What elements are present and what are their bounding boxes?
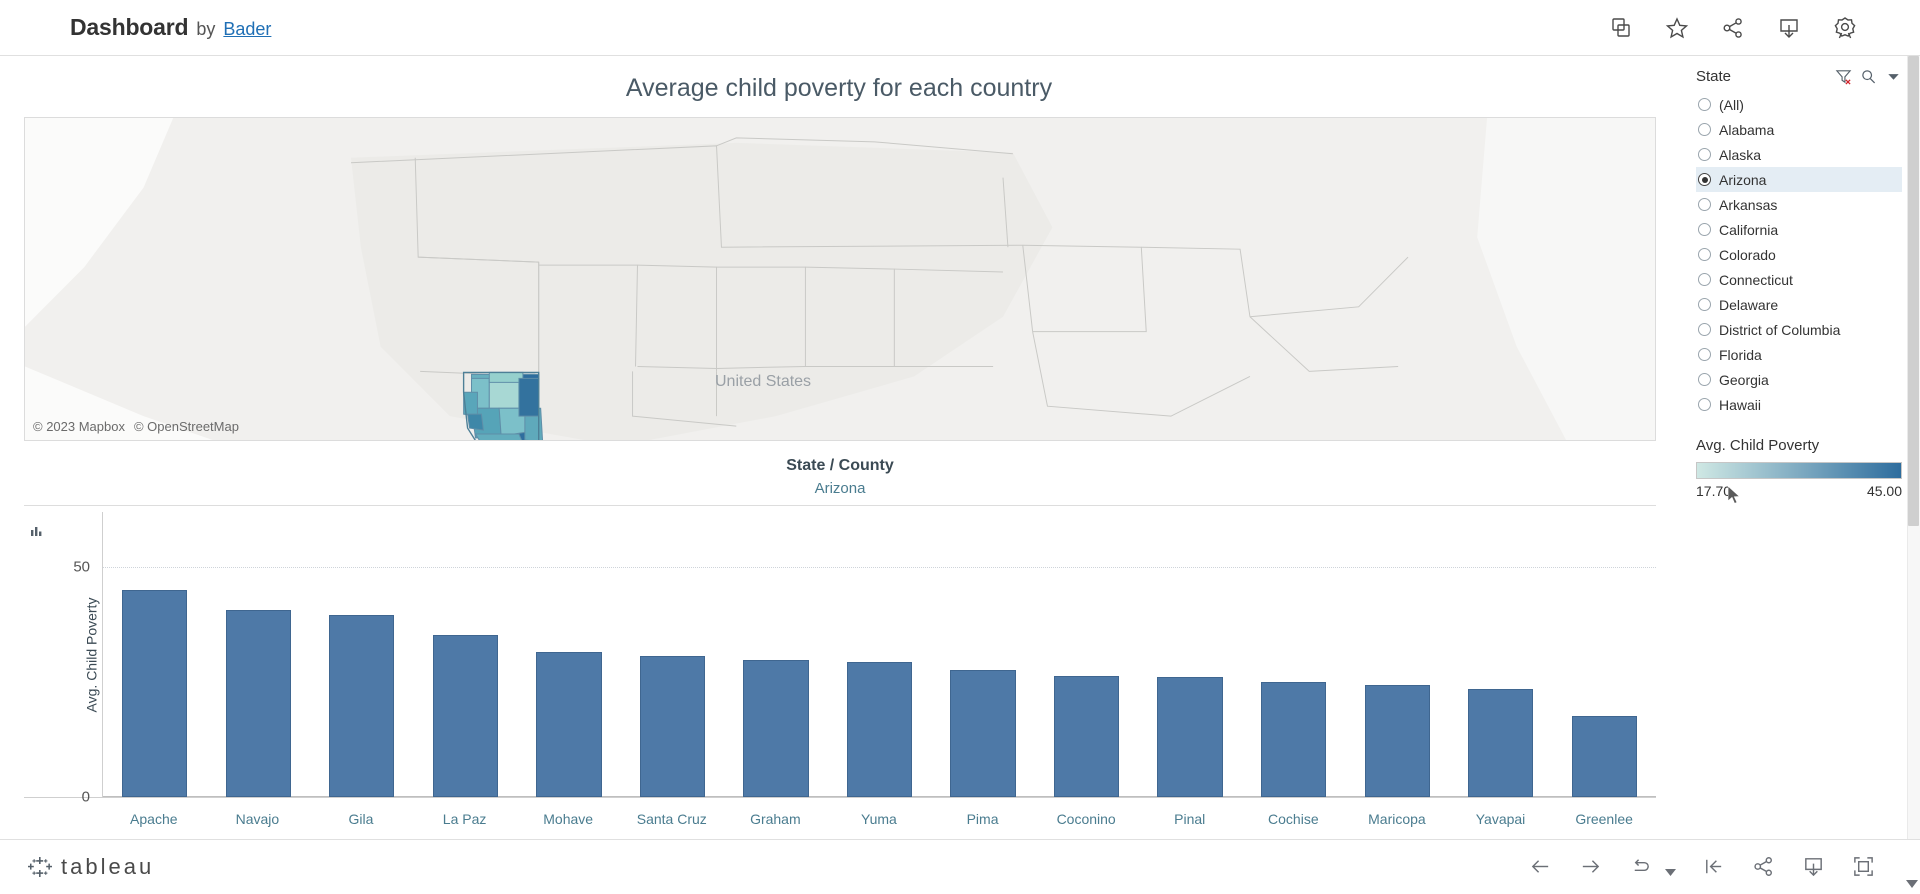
y-axis: Avg. Child Poverty 50 0	[24, 512, 102, 797]
x-axis-label[interactable]: Yavapai	[1449, 798, 1553, 839]
filter-pane: State (All)AlabamaAlaskaArizonaArkans	[1678, 56, 1920, 839]
bar[interactable]	[640, 656, 705, 797]
filter-item-label: Arizona	[1719, 172, 1766, 188]
filter-header-icons	[1835, 68, 1902, 85]
bar-item[interactable]	[828, 512, 932, 797]
state-filter-list[interactable]: (All)AlabamaAlaskaArizonaArkansasCalifor…	[1696, 92, 1902, 417]
radio-button[interactable]	[1698, 248, 1711, 261]
bar-item[interactable]	[621, 512, 725, 797]
bottom-toolbar: tableau	[0, 839, 1920, 894]
color-legend: Avg. Child Poverty 17.70 45.00	[1696, 437, 1902, 499]
filter-menu-caret-icon[interactable]	[1885, 68, 1902, 85]
filter-item-connecticut[interactable]: Connecticut	[1696, 267, 1902, 292]
bar[interactable]	[226, 610, 291, 797]
legend-max-value: 45.00	[1867, 483, 1902, 499]
x-axis-label[interactable]: Apache	[102, 798, 206, 839]
tableau-wordmark: tableau	[61, 854, 154, 880]
share-icon[interactable]	[1752, 855, 1776, 879]
author-link[interactable]: Bader	[223, 19, 271, 40]
filter-item-district-of-columbia[interactable]: District of Columbia	[1696, 317, 1902, 342]
x-axis-label[interactable]: Navajo	[206, 798, 310, 839]
radio-button[interactable]	[1698, 398, 1711, 411]
x-axis-label[interactable]: Gila	[309, 798, 413, 839]
x-axis-label[interactable]: Pinal	[1138, 798, 1242, 839]
filter-item-label: Florida	[1719, 347, 1762, 363]
bar[interactable]	[536, 652, 601, 797]
bar-item[interactable]	[931, 512, 1035, 797]
bar-item[interactable]	[1035, 512, 1139, 797]
filter-item-delaware[interactable]: Delaware	[1696, 292, 1902, 317]
radio-button[interactable]	[1698, 123, 1711, 136]
tableau-logo: tableau	[20, 854, 154, 880]
filter-item-label: California	[1719, 222, 1778, 238]
bar-item[interactable]	[207, 512, 311, 797]
bar[interactable]	[1468, 689, 1533, 797]
filter-item-label: Connecticut	[1719, 272, 1793, 288]
map-geometry	[25, 118, 1655, 440]
chart-column-header: State / County	[24, 457, 1656, 475]
y-tick-50: 50	[73, 559, 90, 576]
bar-item[interactable]	[1345, 512, 1449, 797]
filter-item-label: Colorado	[1719, 247, 1776, 263]
bar[interactable]	[950, 670, 1015, 797]
radio-button[interactable]	[1698, 373, 1711, 386]
page-scrollbar-track[interactable]	[1907, 56, 1920, 839]
radio-button[interactable]	[1698, 173, 1711, 186]
legend-min-value: 17.70	[1696, 483, 1731, 499]
radio-button[interactable]	[1698, 298, 1711, 311]
bar-item[interactable]	[724, 512, 828, 797]
revert-icon[interactable]	[1629, 855, 1653, 879]
filter-item-label: Delaware	[1719, 297, 1778, 313]
radio-button[interactable]	[1698, 348, 1711, 361]
viz-title: Average child poverty for each country	[0, 56, 1678, 117]
top-toolbar: Dashboard by Bader	[0, 0, 1920, 56]
plot-area	[102, 512, 1656, 797]
bar[interactable]	[1157, 677, 1222, 797]
x-axis-label[interactable]: Yuma	[827, 798, 931, 839]
x-axis-label[interactable]: Mohave	[516, 798, 620, 839]
tableau-mark-icon	[28, 855, 52, 879]
bar-item[interactable]	[414, 512, 518, 797]
legend-gradient	[1696, 462, 1902, 479]
filter-item-all[interactable]: (All)	[1696, 92, 1902, 117]
bar-item[interactable]	[1242, 512, 1346, 797]
share-icon[interactable]	[1720, 15, 1746, 41]
map-view[interactable]: United States © 2023 Mapbox © OpenStreet…	[24, 117, 1656, 441]
scroll-down-caret-icon[interactable]	[1906, 879, 1918, 888]
byline-text: by	[196, 19, 215, 40]
radio-button[interactable]	[1698, 323, 1711, 336]
bar[interactable]	[1572, 716, 1637, 797]
plot-row: Avg. Child Poverty 50 0	[24, 506, 1656, 797]
bar[interactable]	[1365, 685, 1430, 797]
page-scrollbar-thumb[interactable]	[1908, 56, 1919, 526]
filter-item-arizona[interactable]: Arizona	[1696, 167, 1902, 192]
certified-badge-icon[interactable]	[1832, 15, 1858, 41]
radio-button[interactable]	[1698, 198, 1711, 211]
filter-item-alaska[interactable]: Alaska	[1696, 142, 1902, 167]
y-tick-0: 0	[82, 789, 90, 806]
radio-button[interactable]	[1698, 148, 1711, 161]
bar-item[interactable]	[310, 512, 414, 797]
filter-item-colorado[interactable]: Colorado	[1696, 242, 1902, 267]
sort-icon[interactable]	[30, 524, 44, 538]
bar[interactable]	[743, 660, 808, 797]
filter-item-label: District of Columbia	[1719, 322, 1840, 338]
filter-item-label: Hawaii	[1719, 397, 1761, 413]
radio-button[interactable]	[1698, 273, 1711, 286]
x-axis-label[interactable]: Coconino	[1034, 798, 1138, 839]
x-axis-label[interactable]: Maricopa	[1345, 798, 1449, 839]
bar-item[interactable]	[1449, 512, 1553, 797]
map-attribution: © 2023 Mapbox © OpenStreetMap	[33, 419, 239, 434]
bar-item[interactable]	[1138, 512, 1242, 797]
fullscreen-icon[interactable]	[1852, 855, 1876, 879]
filter-item-label: Alaska	[1719, 147, 1761, 163]
bar[interactable]	[1054, 676, 1119, 797]
legend-title: Avg. Child Poverty	[1696, 437, 1902, 454]
x-axis-label[interactable]: Santa Cruz	[620, 798, 724, 839]
bar[interactable]	[329, 615, 394, 797]
filter-header: State	[1696, 68, 1902, 85]
page-title: Dashboard	[70, 14, 188, 41]
bar-item[interactable]	[1552, 512, 1656, 797]
dashboard-body: Average child poverty for each country	[0, 56, 1920, 839]
filter-item-alabama[interactable]: Alabama	[1696, 117, 1902, 142]
mapbox-attribution: © 2023 Mapbox	[33, 419, 125, 434]
x-axis-label[interactable]: Greenlee	[1552, 798, 1656, 839]
x-axis-label[interactable]: Pima	[931, 798, 1035, 839]
x-axis-labels: ApacheNavajoGilaLa PazMohaveSanta CruzGr…	[24, 797, 1656, 839]
filter-item-label: (All)	[1719, 97, 1744, 113]
bar-item[interactable]	[517, 512, 621, 797]
duplicate-icon[interactable]	[1608, 15, 1634, 41]
revert-caret-icon[interactable]	[1665, 863, 1676, 871]
bar-series	[103, 512, 1656, 797]
x-axis-label[interactable]: Graham	[724, 798, 828, 839]
filter-item-label: Alabama	[1719, 122, 1774, 138]
top-toolbar-actions	[1608, 15, 1898, 41]
tableau-dashboard: Dashboard by Bader Average chi	[0, 0, 1920, 894]
favorite-star-icon[interactable]	[1664, 15, 1690, 41]
bar[interactable]	[122, 590, 187, 797]
radio-button[interactable]	[1698, 98, 1711, 111]
filter-title: State	[1696, 68, 1731, 85]
bottom-toolbar-actions	[1529, 855, 1876, 879]
y-axis-title: Avg. Child Poverty	[83, 597, 99, 712]
forward-arrow-icon[interactable]	[1579, 855, 1603, 879]
bar-item[interactable]	[103, 512, 207, 797]
download-icon[interactable]	[1802, 855, 1826, 879]
download-icon[interactable]	[1776, 15, 1802, 41]
dashboard-title-group: Dashboard by Bader	[70, 14, 271, 41]
osm-attribution: © OpenStreetMap	[134, 419, 239, 434]
search-icon[interactable]	[1860, 68, 1877, 85]
x-axis-label[interactable]: La Paz	[413, 798, 517, 839]
filter-item-label: Arkansas	[1719, 197, 1777, 213]
reset-to-start-icon[interactable]	[1702, 855, 1726, 879]
filter-item-arkansas[interactable]: Arkansas	[1696, 192, 1902, 217]
back-arrow-icon[interactable]	[1529, 855, 1553, 879]
viz-pane: Average child poverty for each country	[0, 56, 1678, 839]
filter-item-florida[interactable]: Florida	[1696, 342, 1902, 367]
clear-filter-icon[interactable]	[1835, 68, 1852, 85]
radio-button[interactable]	[1698, 223, 1711, 236]
chart-state-label[interactable]: Arizona	[24, 475, 1656, 497]
legend-values: 17.70 45.00	[1696, 483, 1902, 499]
bar[interactable]	[433, 635, 498, 797]
chart-header: State / County Arizona	[24, 441, 1656, 506]
filter-item-hawaii[interactable]: Hawaii	[1696, 392, 1902, 417]
bar-chart-view: State / County Arizona Avg. Child Povert…	[24, 441, 1656, 839]
filter-item-georgia[interactable]: Georgia	[1696, 367, 1902, 392]
x-axis-label[interactable]: Cochise	[1242, 798, 1346, 839]
bar[interactable]	[847, 662, 912, 797]
filter-item-california[interactable]: California	[1696, 217, 1902, 242]
bar[interactable]	[1261, 682, 1326, 797]
filter-item-label: Georgia	[1719, 372, 1769, 388]
